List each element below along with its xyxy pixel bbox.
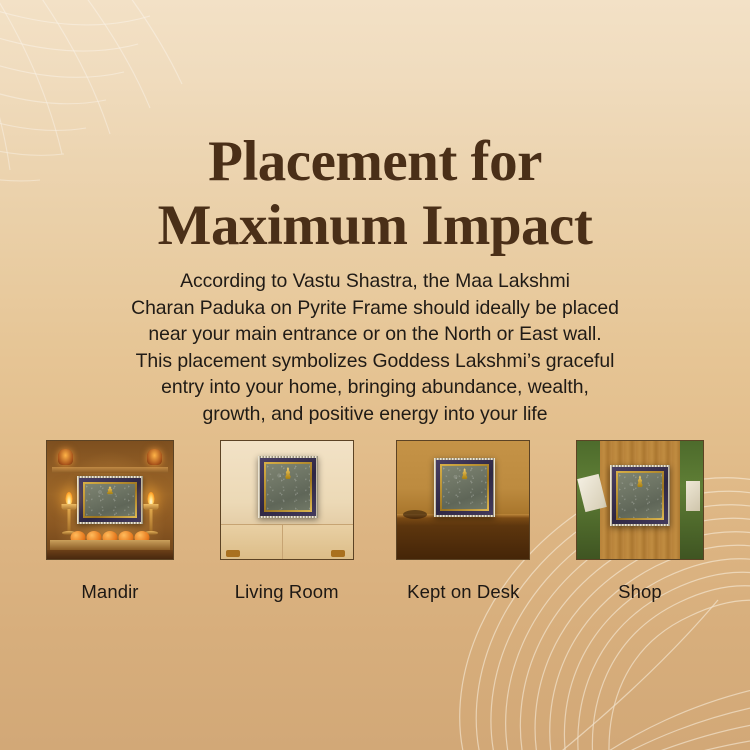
small-idol-icon-left <box>58 449 73 465</box>
placement-thumbnail-row: Mandir <box>36 440 714 603</box>
poster-canvas: Placement for Maximum Impact According t… <box>0 0 750 750</box>
artwork-pyrite-panel <box>266 464 311 509</box>
artwork-gold-mat <box>83 482 137 517</box>
placement-item-shop[interactable]: Shop <box>566 440 714 603</box>
thumbnail-image-living-room[interactable] <box>220 440 354 560</box>
description-line-2: Charan Paduka on Pyrite Frame should ide… <box>62 295 688 322</box>
framed-artwork <box>434 458 495 517</box>
artwork-bead-border <box>77 476 143 523</box>
description-line-4: This placement symbolizes Goddess Lakshm… <box>62 348 688 375</box>
framed-artwork <box>77 476 143 523</box>
placement-label-mandir: Mandir <box>81 581 138 603</box>
mandir-floor <box>47 550 173 559</box>
placement-item-living-room[interactable]: Living Room <box>213 440 361 603</box>
placement-label-shop: Shop <box>618 581 662 603</box>
shop-scene <box>577 441 703 559</box>
artwork-gold-mat <box>264 462 313 511</box>
description-line-5: entry into your home, bringing abundance… <box>62 374 688 401</box>
thumbnail-image-kept-on-desk[interactable] <box>396 440 530 560</box>
diya-lamp-icon-right <box>143 495 159 535</box>
description-text: According to Vastu Shastra, the Maa Laks… <box>62 268 688 427</box>
shop-foreground-object-right <box>686 481 700 511</box>
artwork-pyrite-panel <box>85 484 135 515</box>
description-line-1: According to Vastu Shastra, the Maa Laks… <box>62 268 688 295</box>
small-idol-icon-right <box>147 449 162 465</box>
description-line-3: near your main entrance or on the North … <box>62 321 688 348</box>
artwork-outer-frame <box>436 460 493 515</box>
sofa-arm-left <box>226 550 240 557</box>
placement-label-living-room: Living Room <box>235 581 339 603</box>
artwork-bead-border <box>434 458 495 517</box>
thumbnail-image-mandir[interactable] <box>46 440 174 560</box>
artwork-outer-frame <box>260 458 317 515</box>
placement-item-kept-on-desk[interactable]: Kept on Desk <box>389 440 537 603</box>
placement-label-kept-on-desk: Kept on Desk <box>407 581 519 603</box>
desk-scene <box>397 441 529 559</box>
lakshmi-figure-icon <box>460 468 470 479</box>
diya-lamp-icon-left <box>61 495 77 535</box>
artwork-gold-mat <box>440 464 489 511</box>
description-line-6: growth, and positive energy into your li… <box>62 401 688 428</box>
framed-artwork <box>610 465 670 526</box>
artwork-pyrite-panel <box>442 466 487 509</box>
thumbnail-image-shop[interactable] <box>576 440 704 560</box>
lakshmi-figure-icon <box>105 486 116 494</box>
artwork-pyrite-panel <box>618 473 662 518</box>
lakshmi-figure-icon <box>283 467 293 479</box>
page-title-line-1: Placement for <box>208 130 542 193</box>
desk-object-shadow <box>403 510 427 519</box>
placement-item-mandir[interactable]: Mandir <box>36 440 184 603</box>
page-title-line-2: Maximum Impact <box>0 194 750 258</box>
framed-artwork <box>258 456 319 517</box>
artwork-outer-frame <box>79 478 141 521</box>
mandir-scene <box>47 441 173 559</box>
mandir-shelf <box>52 467 168 473</box>
mandir-base-ledge <box>50 540 171 550</box>
sofa-arm-right <box>331 550 345 557</box>
artwork-bead-border <box>610 465 670 526</box>
lakshmi-figure-icon <box>635 475 645 487</box>
artwork-outer-frame <box>612 467 668 524</box>
desk-surface <box>397 514 529 559</box>
artwork-bead-border <box>258 456 319 517</box>
artwork-gold-mat <box>616 471 664 520</box>
living-room-scene <box>221 441 353 559</box>
page-title: Placement for Maximum Impact <box>0 130 750 258</box>
